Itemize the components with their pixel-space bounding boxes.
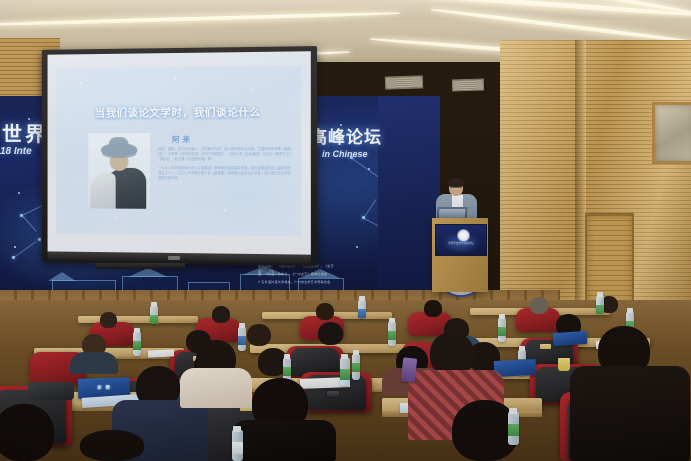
conference-hall-photo: 世界 18 Inte 高峰论坛 in Chinese 国艺术报》、《延河文学》、… xyxy=(0,0,691,461)
water-bottle-r5-1 xyxy=(133,332,141,356)
banner-english-right: in Chinese xyxy=(322,149,368,159)
attendee-shoulders-front-4 xyxy=(570,366,690,461)
phone-front-1[interactable] xyxy=(401,357,417,382)
attendee-head-front-8 xyxy=(80,430,144,461)
slide-bio-text: 阿来，藏族，四川马尔康人，当代著名作家，四川省作家协会主席。主要作品有诗集《棱磨… xyxy=(158,147,291,186)
presentation-slide: 当我们谈论文学时，我们谈论什么 阿来 阿来，藏族，四川马尔康人，当代著名作家，四… xyxy=(56,66,301,237)
speaker-hair xyxy=(448,178,464,187)
attendee-shoulders-r5-1 xyxy=(70,352,118,374)
ceiling-vent-center xyxy=(385,75,423,89)
attendee-head-front-7 xyxy=(0,404,54,461)
slide-title: 当我们谈论文学时，我们谈论什么 xyxy=(56,104,301,120)
seat-number-tag-r5-2 xyxy=(540,344,551,349)
water-bottle-front-2 xyxy=(508,412,519,445)
stage-backdrop-banner-right-edge xyxy=(378,96,440,296)
water-bottle-r5-2 xyxy=(238,327,246,351)
speaker-glasses-icon xyxy=(450,187,462,191)
laptop-screen xyxy=(439,209,466,218)
lectern-podium: 世界华文文学高峰论坛 xyxy=(432,218,488,292)
attendee-head-r5-4 xyxy=(318,322,343,345)
screen-brand-logo xyxy=(168,256,180,260)
water-bottle-r6-3 xyxy=(596,296,604,313)
water-bottle-r4-2 xyxy=(352,354,360,380)
water-bottle-front-3 xyxy=(340,358,350,386)
attendee-head-r6-3 xyxy=(316,303,334,320)
attendee-shoulders-front-5 xyxy=(232,420,336,461)
projection-screen: 当我们谈论文学时，我们谈论什么 阿来 阿来，藏族，四川马尔康人，当代著名作家，四… xyxy=(42,46,317,266)
attendee-head-r5-3 xyxy=(247,324,271,346)
attendee-head-r6-5 xyxy=(530,297,548,314)
water-bottle-r5-4 xyxy=(498,318,506,342)
podium-seal-icon xyxy=(457,229,470,242)
cup-r4-1 xyxy=(558,358,570,371)
banner-english-left: 18 Inte xyxy=(0,146,32,157)
banner-fine-print-3: 广东外语外贸大学承办、广州市文学艺术界联合会 xyxy=(258,280,336,285)
paper-r5-1 xyxy=(148,349,174,357)
acoustic-wall-panel xyxy=(652,102,691,164)
banner-fine-print-2: 国、《作品》杂志社、《广州文艺》等单位协办 xyxy=(258,272,336,277)
slide-bio-paragraph-2: 一九九八年凭借长篇小说《尘埃落定》荣获第五届茅盾文学奖，成为该奖项历史上最年轻的… xyxy=(158,166,291,181)
speaker-portrait-photo xyxy=(88,133,150,209)
podium-front-panel: 世界华文文学高峰论坛 xyxy=(435,224,487,256)
attendee-head-r6-4 xyxy=(424,300,442,317)
water-bottle-front-1 xyxy=(232,430,243,461)
water-bottle-r5-3 xyxy=(388,322,396,346)
slide-bio-paragraph-1: 阿来，藏族，四川马尔康人，当代著名作家，四川省作家协会主席。主要作品有诗集《棱磨… xyxy=(158,147,291,162)
attendee-shoulders-front-2 xyxy=(180,368,252,408)
podium-panel-text: 世界华文文学高峰论坛 xyxy=(441,242,481,245)
slide-speaker-name: 阿来 xyxy=(172,134,193,145)
seat-latch-r4-2[interactable] xyxy=(326,390,340,398)
ceiling-vent-center-2 xyxy=(452,78,484,91)
attendee-head-r6-1 xyxy=(100,312,117,328)
banner-chinese-right: 高峰论坛 xyxy=(310,123,382,148)
name-card-r5-1 xyxy=(553,331,588,346)
name-card-text-1: 李 倩 xyxy=(78,384,130,392)
ceiling-panel-upper xyxy=(0,0,691,20)
water-bottle-r6-1 xyxy=(150,306,158,324)
projection-screen-surface: 当我们谈论文学时，我们谈论什么 阿来 阿来，藏族，四川马尔康人，当代著名作家，四… xyxy=(48,51,311,254)
water-bottle-r6-2 xyxy=(358,300,366,318)
bag-on-desk xyxy=(28,382,74,400)
screen-roller-housing xyxy=(95,263,185,269)
attendee-head-r6-2 xyxy=(212,306,230,323)
